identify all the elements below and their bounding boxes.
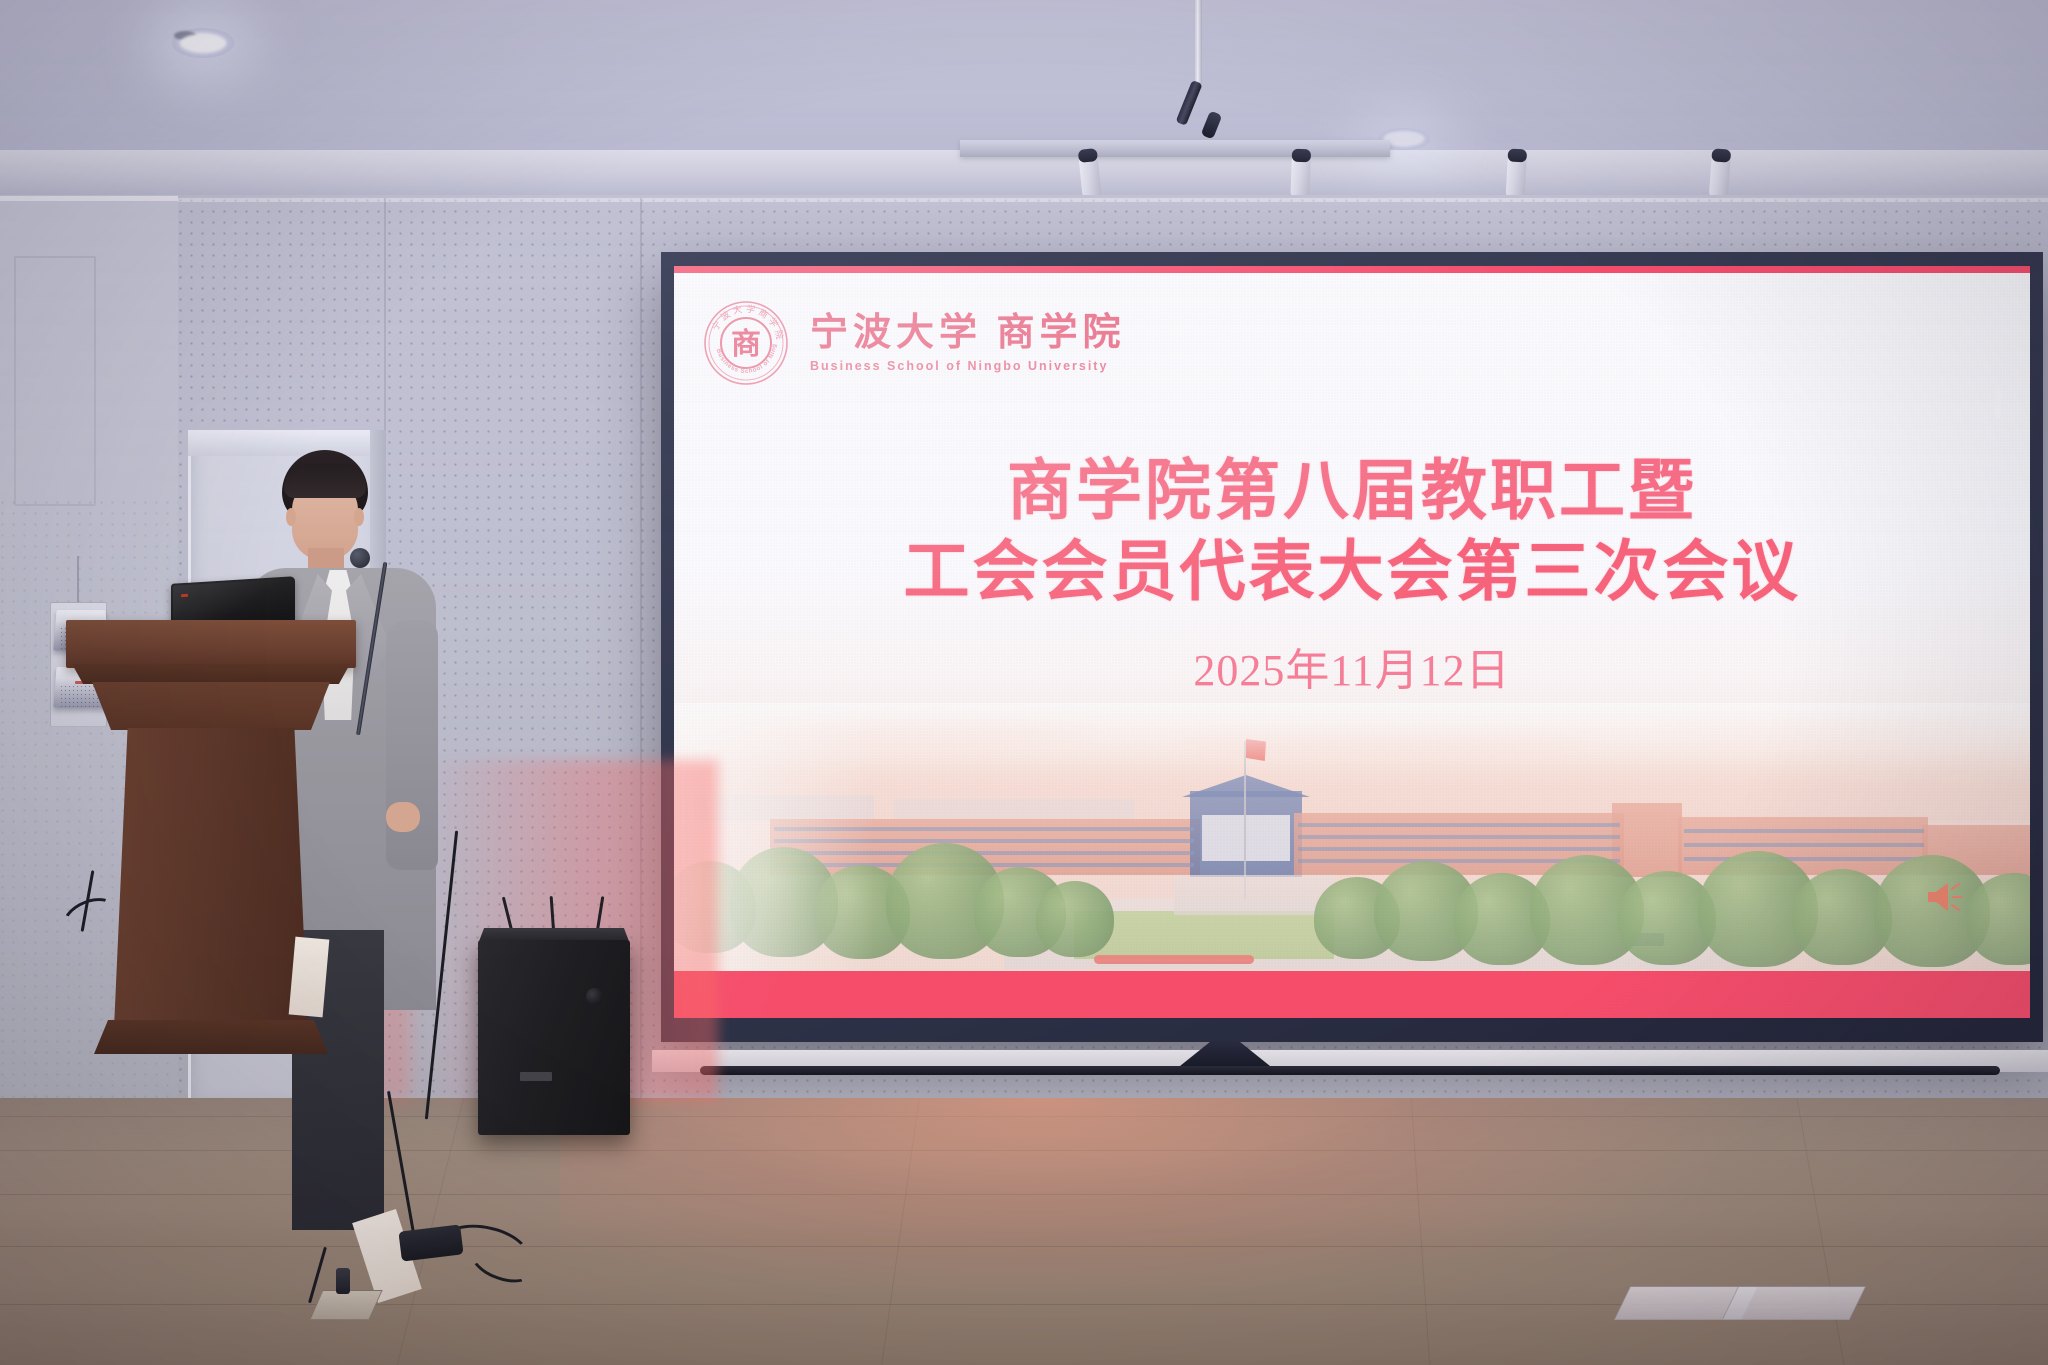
ceiling-mount-pole xyxy=(1195,0,1202,90)
presentation-slide[interactable]: 商 宁波大学商学院 Business School of Ningbo Univ… xyxy=(674,266,2030,1018)
logo-name-en: Business School of Ningbo University xyxy=(810,359,1126,373)
slide-title-line-1: 商学院第八届教职工暨 xyxy=(674,451,2030,532)
subwoofer-speaker xyxy=(478,940,630,1135)
panel-seam xyxy=(640,198,642,1100)
svg-text:商: 商 xyxy=(731,328,761,361)
bezel-reflection xyxy=(1995,390,2001,418)
speaker-cord xyxy=(77,556,79,606)
logo-name-cn: 宁波大学 商学院 xyxy=(810,313,1126,354)
panel-seam xyxy=(178,198,2048,202)
track-spotlight[interactable] xyxy=(1290,152,1311,201)
track-light-rail xyxy=(960,140,1390,157)
wall-frame-outline xyxy=(14,256,96,506)
university-seal-icon: 商 宁波大学商学院 Business School of Ningbo Univ… xyxy=(703,300,789,386)
ceiling-downlight xyxy=(172,28,234,58)
floor-cable-run xyxy=(700,1066,2000,1075)
plug-connector xyxy=(336,1268,350,1294)
led-video-wall[interactable]: 商 宁波大学商学院 Business School of Ningbo Univ… xyxy=(661,252,2043,1042)
speaker-volume-icon[interactable] xyxy=(1922,879,1966,915)
national-flag-icon xyxy=(1246,739,1266,761)
slide-bottom-accent-bar xyxy=(674,971,2030,1018)
campus-photo xyxy=(674,703,2030,971)
paper-sheet xyxy=(289,937,330,1018)
slide-title-line-2: 工会会员代表大会第三次会议 xyxy=(674,532,2030,613)
slide-top-accent-bar xyxy=(674,266,2030,273)
microphone-icon xyxy=(350,548,370,568)
slide-title-block: 商学院第八届教职工暨 工会会员代表大会第三次会议 2025年11月12日 xyxy=(674,451,2030,698)
floor-access-panel[interactable] xyxy=(1722,1286,1867,1320)
display-screen[interactable]: 商 宁波大学商学院 Business School of Ningbo Univ… xyxy=(674,266,2030,1018)
institution-logo: 商 宁波大学商学院 Business School of Ningbo Univ… xyxy=(703,300,1126,386)
podium xyxy=(66,620,356,1060)
slide-date: 2025年11月12日 xyxy=(674,634,2030,698)
photo-trees xyxy=(674,821,2030,971)
track-spotlight[interactable] xyxy=(1709,151,1731,200)
track-spotlight[interactable] xyxy=(1506,152,1527,201)
wall-trim xyxy=(0,196,178,201)
screenshot-root: 商 宁波大学商学院 Business School of Ningbo Univ… xyxy=(0,0,2048,1365)
